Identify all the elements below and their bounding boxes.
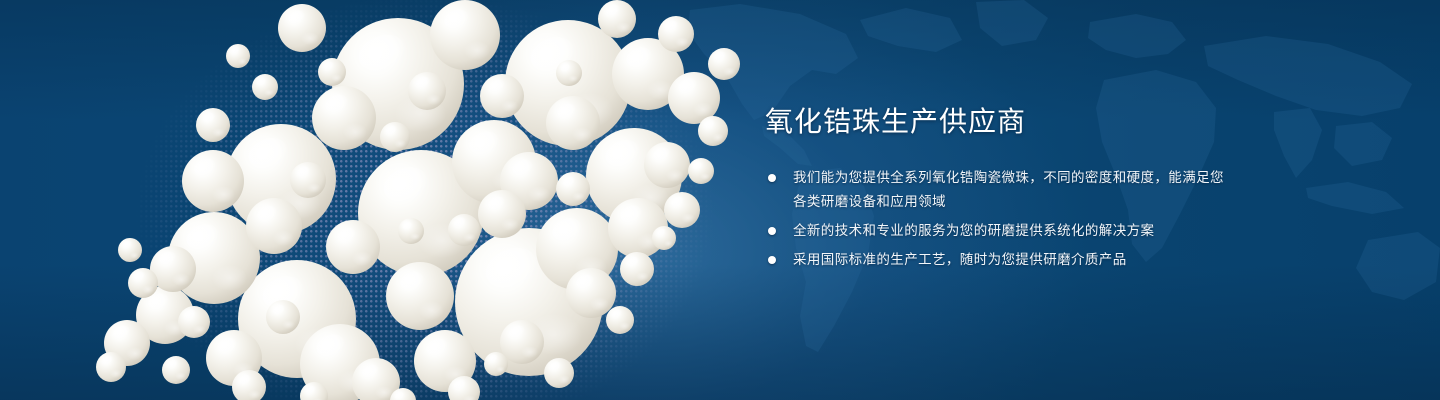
bullet-dot-icon	[768, 174, 776, 182]
list-item-label: 全新的技术和专业的服务为您的研磨提供系统化的解决方案	[793, 219, 1235, 243]
bullet-dot-icon	[768, 256, 776, 264]
list-item-label: 我们能为您提供全系列氧化锆陶瓷微珠，不同的密度和硬度，能满足您各类研磨设备和应用…	[793, 166, 1235, 214]
list-item: 我们能为您提供全系列氧化锆陶瓷微珠，不同的密度和硬度，能满足您各类研磨设备和应用…	[765, 166, 1235, 214]
feature-list: 我们能为您提供全系列氧化锆陶瓷微珠，不同的密度和硬度，能满足您各类研磨设备和应用…	[765, 166, 1235, 272]
page-title: 氧化锆珠生产供应商	[765, 104, 1235, 140]
list-item-label: 采用国际标准的生产工艺，随时为您提供研磨介质产品	[793, 248, 1235, 272]
hero-banner: 氧化锆珠生产供应商 我们能为您提供全系列氧化锆陶瓷微珠，不同的密度和硬度，能满足…	[0, 0, 1440, 400]
bullet-dot-icon	[768, 227, 776, 235]
list-item: 全新的技术和专业的服务为您的研磨提供系统化的解决方案	[765, 219, 1235, 243]
list-item: 采用国际标准的生产工艺，随时为您提供研磨介质产品	[765, 248, 1235, 272]
banner-copy: 氧化锆珠生产供应商 我们能为您提供全系列氧化锆陶瓷微珠，不同的密度和硬度，能满足…	[765, 104, 1235, 277]
